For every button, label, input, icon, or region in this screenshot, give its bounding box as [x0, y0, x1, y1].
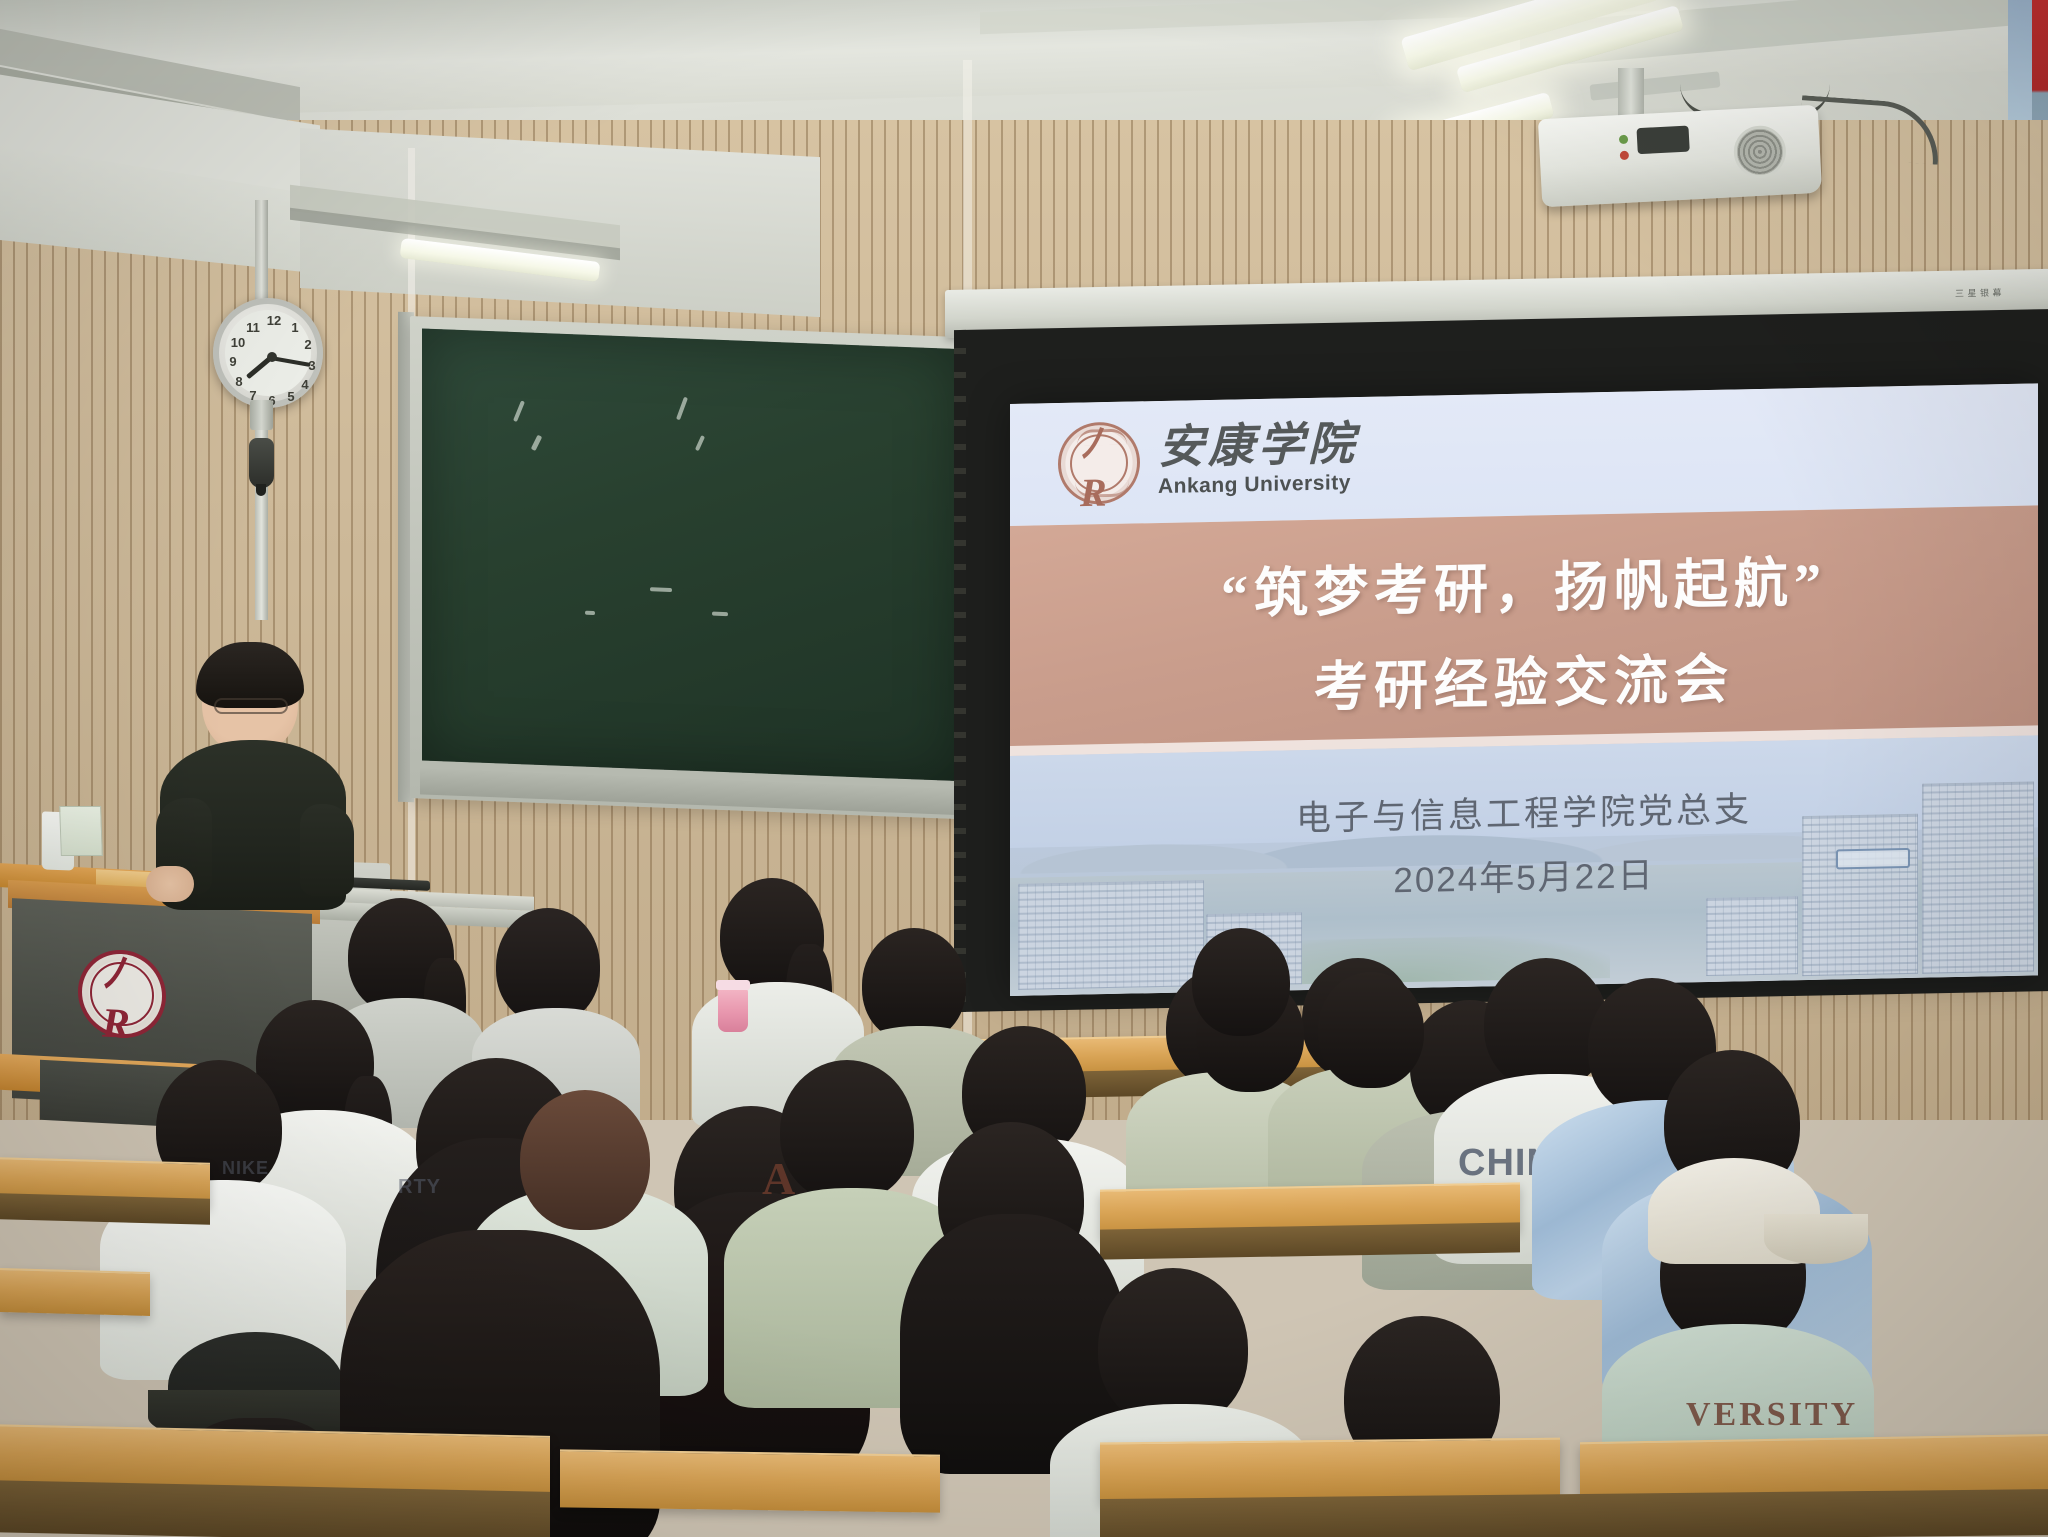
photo-building: [1706, 896, 1798, 976]
university-name-en: Ankang University: [1158, 471, 1358, 499]
clock-number: 9: [225, 354, 241, 369]
student-head-back: [1192, 928, 1290, 1036]
university-wordmark: 安康学院 Ankang University: [1158, 421, 1358, 499]
slide-header: ﾉR 安康学院 Ankang University: [1010, 383, 2038, 526]
student-head-back: [862, 928, 966, 1042]
name-card: [59, 806, 103, 856]
slide-title-line-1: “筑梦考研，扬帆起航”: [1221, 538, 1827, 629]
student-with-cap: VERSITY: [1612, 1158, 1862, 1478]
chalk-mark: [712, 612, 728, 617]
slide-campus-photo: 电子与信息工程学院党总支 2024年5月22日: [1010, 735, 2038, 996]
shirt-logo: A: [762, 1152, 795, 1205]
slide-title-line-2: 考研经验交流会: [1314, 634, 1734, 721]
projector-vent: [1733, 124, 1788, 179]
screen-brand-label: 三 星 银 幕: [1955, 286, 2002, 300]
clock-number: 11: [245, 320, 261, 335]
clock-number: 10: [230, 335, 246, 350]
seal-monogram: ﾉR: [102, 938, 142, 1049]
projector-led: [1619, 135, 1628, 144]
projector-panel: [1636, 126, 1689, 155]
speaker-hand-left: [146, 866, 194, 902]
chalk-mark: [650, 587, 672, 592]
presentation-slide: ﾉR 安康学院 Ankang University “筑梦考研，扬帆起航” 考研…: [1010, 383, 2038, 996]
classroom-desk: [0, 1268, 150, 1316]
pipe-joint: [250, 400, 273, 430]
chalkboard-surface: [422, 328, 958, 781]
sprinkler-head: [249, 438, 274, 488]
drink-cup-lid: [716, 980, 750, 990]
clock-number: 5: [283, 389, 299, 404]
projector: [1538, 105, 1822, 208]
chalk-mark: [585, 611, 595, 615]
classroom-desk: [560, 1449, 940, 1512]
drink-cup: [718, 988, 748, 1032]
student-head-back: [496, 908, 600, 1024]
university-seal-icon: ﾉR: [1058, 421, 1140, 505]
photo-building: [1802, 814, 1918, 976]
chalk-mark: [513, 400, 525, 422]
shirt-logo: VERSITY: [1686, 1396, 1858, 1434]
cap-brim: [1764, 1214, 1868, 1264]
projector-led: [1620, 151, 1629, 160]
classroom-desk-front: [0, 1193, 210, 1224]
slide-title-band: “筑梦考研，扬帆起航” 考研经验交流会: [1010, 505, 2038, 756]
clock-number: 4: [297, 377, 313, 392]
clock-number: 8: [231, 374, 247, 389]
chalk-mark: [676, 397, 688, 421]
speaker-arm-right: [300, 804, 354, 896]
university-name-cn: 安康学院: [1158, 421, 1358, 471]
student-head-back: [520, 1090, 650, 1230]
classroom-desk: [1100, 1438, 1560, 1503]
student-head-back: [1318, 972, 1424, 1088]
clock-number: 12: [266, 313, 282, 328]
clock-number: 2: [300, 337, 316, 352]
classroom-photo: 12 1 2 3 4 5 6 7 8 9 10 11: [0, 0, 2048, 1537]
clock-center-pin: [267, 352, 277, 362]
shirt-text: RTY: [398, 1176, 441, 1199]
speaker-presenter: [152, 648, 352, 898]
chalk-mark: [695, 435, 705, 451]
green-chalkboard: [410, 316, 970, 820]
clock-number: 1: [287, 320, 303, 335]
shirt-text: NIKE: [222, 1158, 269, 1179]
speaker-glasses: [214, 698, 288, 714]
seal-monogram: ﾉR: [1080, 410, 1118, 516]
wall-clock: 12 1 2 3 4 5 6 7 8 9 10 11: [213, 298, 323, 408]
sprinkler-tip: [256, 484, 266, 496]
chalk-mark: [531, 435, 543, 451]
